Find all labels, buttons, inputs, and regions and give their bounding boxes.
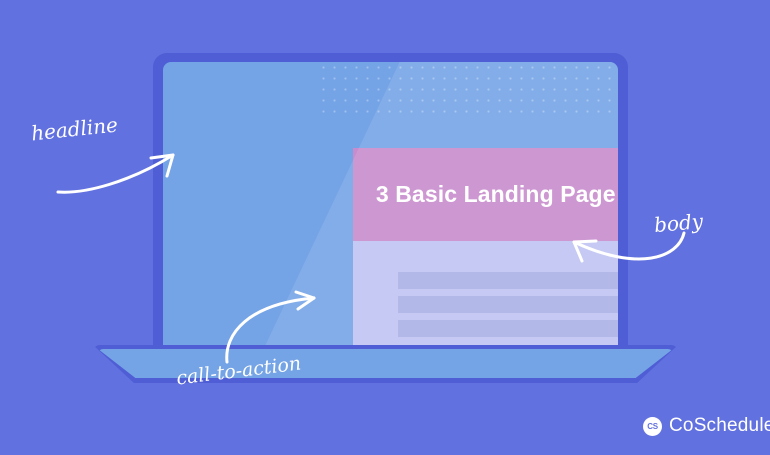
coschedule-wordmark: CoSchedule — [669, 415, 770, 437]
coschedule-logo: CS CoSchedule — [643, 415, 770, 437]
body-text-line — [398, 272, 618, 289]
headline-text: 3 Basic Landing Page Elements — [353, 148, 618, 241]
laptop-screen: 3 Basic Landing Page Elements — [163, 62, 618, 350]
annotation-label-headline: headline — [30, 113, 119, 146]
annotation-label-body: body — [653, 209, 704, 237]
body-text-line — [398, 296, 618, 313]
illustration-canvas: 3 Basic Landing Page Elements headline b… — [0, 0, 770, 455]
coschedule-mark-icon: CS — [643, 417, 662, 436]
landing-page-mock: 3 Basic Landing Page Elements — [353, 148, 618, 350]
body-text-line — [398, 320, 618, 337]
screen-dot-texture — [318, 62, 618, 120]
